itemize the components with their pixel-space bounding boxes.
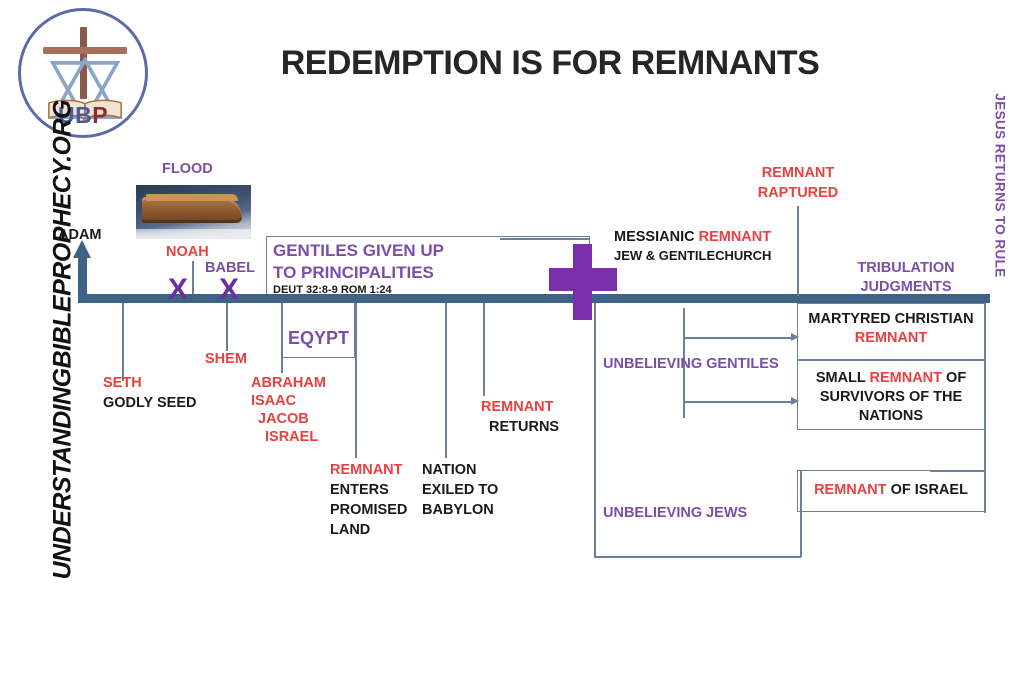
label-remnant-raptured-1: REMNANT [752, 164, 844, 182]
branch-gentiles-arrow2-line [683, 401, 793, 403]
tick-noah [192, 261, 194, 294]
cross-horizontal-icon [43, 47, 127, 54]
noahs-ark-image [136, 185, 251, 239]
x-mark-noah: X [168, 275, 188, 305]
logo-text-p: P [92, 102, 108, 128]
label-land: LAND [330, 521, 370, 539]
label-tribulation-2: JUDGMENTS [826, 278, 986, 296]
box-survivors-remnant: REMNANT [870, 370, 943, 386]
gentiles-line1: GENTILES GIVEN UP [273, 240, 444, 261]
box-survivors-pre: SMALL [816, 370, 870, 386]
messianic-connector-line [500, 238, 590, 240]
label-enters: ENTERS [330, 481, 389, 499]
logo-text: UBP [21, 102, 145, 129]
branch-gentiles-arrow1-line [683, 337, 793, 339]
timeline-start-stem [78, 253, 87, 298]
box-israel-post: OF ISRAEL [887, 482, 968, 498]
ark-deck [146, 194, 238, 201]
tick-nation-exiled [445, 303, 447, 458]
box-survivors-line3: NATIONS [797, 407, 985, 425]
messianic-subtitle: JEW & GENTILECHURCH [614, 248, 771, 263]
label-babylon: BABYLON [422, 501, 494, 519]
box-survivors-post: OF [942, 370, 966, 386]
label-egypt: EQYPT [288, 328, 349, 349]
bracket-jews-bottom [594, 556, 801, 558]
label-unbelieving-jews: UNBELIEVING JEWS [603, 504, 747, 522]
label-noah: NOAH [166, 243, 209, 261]
label-promised: PROMISED [330, 501, 407, 519]
box-survivors-line1: SMALL REMNANT OF [797, 369, 985, 387]
box-martyred-line1: MARTYRED CHRISTIAN [797, 310, 985, 328]
label-unbelieving-gentiles: UNBELIEVING GENTILES [603, 355, 779, 373]
tick-shem [226, 303, 228, 351]
israel-connector-line [930, 470, 986, 472]
label-returns: RETURNS [489, 418, 559, 436]
x-mark-babel: X [219, 275, 239, 305]
messianic-remnant-label: MESSIANIC REMNANT [614, 228, 771, 246]
label-remnant-returns: REMNANT [481, 398, 554, 416]
gentiles-refs: DEUT 32:8-9 ROM 1:24 [273, 284, 392, 296]
label-tribulation-1: TRIBULATION [826, 259, 986, 277]
label-remnant-enters: REMNANT [330, 461, 403, 479]
bracket-jews-left [594, 303, 596, 557]
box-israel-text: REMNANT OF ISRAEL [797, 481, 985, 499]
ark-water [136, 229, 251, 239]
cross-icon-horizontal [549, 268, 617, 291]
label-nation: NATION [422, 461, 477, 479]
label-abraham: ABRAHAM [251, 374, 326, 392]
label-exiled-to: EXILED TO [422, 481, 498, 499]
box-survivors-line2: SURVIVORS OF THE [797, 388, 985, 406]
divider-tribulation-start [797, 236, 799, 296]
gentiles-line2: TO PRINCIPALITIES [273, 262, 434, 283]
box-israel-remnant: REMNANT [814, 482, 887, 498]
label-remnant-raptured-2: RAPTURED [752, 184, 844, 202]
label-isaac: ISAAC [251, 392, 296, 410]
box-martyred-line2: REMNANT [797, 329, 985, 347]
label-flood: FLOOD [162, 160, 213, 178]
label-godly-seed: GODLY SEED [103, 394, 196, 412]
jesus-returns-label: JESUS RETURNS TO RULE [993, 71, 1008, 301]
label-adam: ADAM [58, 226, 102, 244]
messianic-remnant-word: REMNANT [699, 229, 772, 245]
tick-remnant-returns [483, 303, 485, 396]
ubp-logo: UBP [18, 8, 148, 138]
label-israel: ISRAEL [265, 428, 318, 446]
label-jacob: JACOB [258, 410, 309, 428]
label-shem: SHEM [205, 350, 247, 368]
label-seth: SETH [103, 374, 142, 392]
tick-remnant-enters [355, 303, 357, 458]
right-edge-connector [984, 303, 986, 513]
messianic-prefix: MESSIANIC [614, 229, 699, 245]
tick-seth [122, 303, 124, 381]
page-title: REDEMPTION IS FOR REMNANTS [250, 44, 850, 83]
